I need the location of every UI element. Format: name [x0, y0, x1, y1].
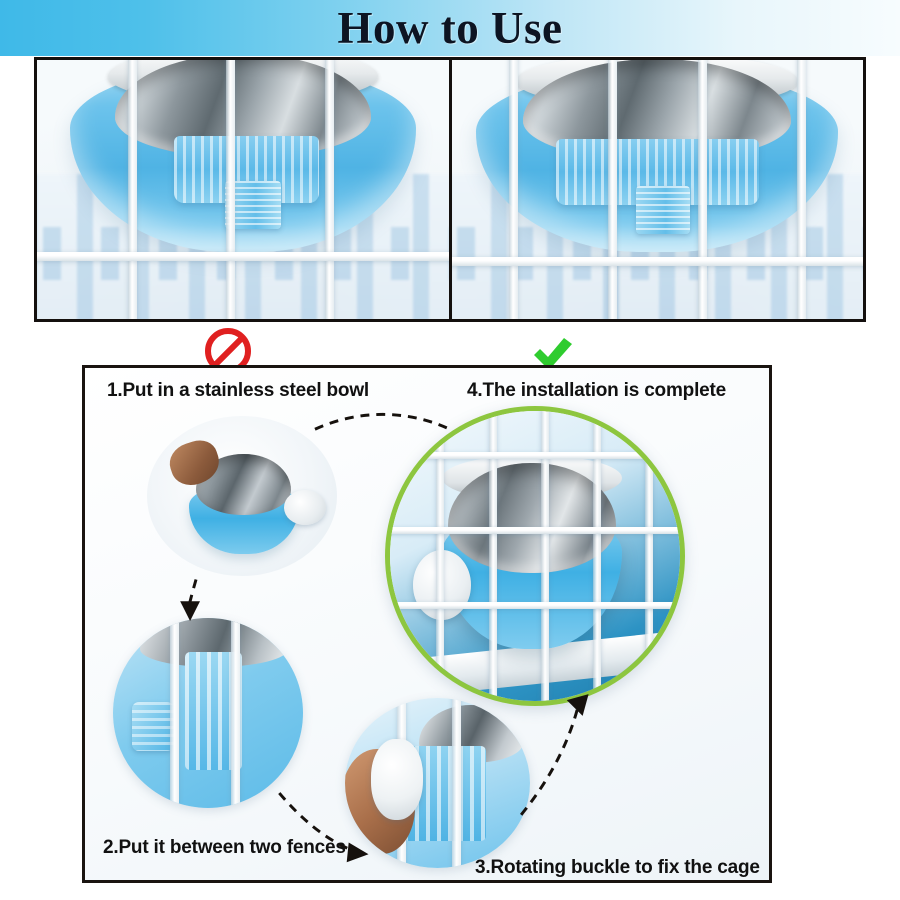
infographic-page: How to Use	[0, 0, 900, 900]
step-1-label: 1.Put in a stainless steel bowl	[107, 380, 369, 402]
page-header: How to Use	[0, 0, 900, 56]
step-3-label: 3.Rotating buckle to fix the cage	[475, 857, 760, 879]
step-3-image	[345, 698, 530, 868]
buckle-knob	[284, 490, 326, 525]
buckle-knob	[636, 186, 690, 233]
step-2-image	[113, 618, 303, 808]
photo-incorrect-mount	[37, 60, 449, 319]
steps-panel: 1.Put in a stainless steel bowl 4.The in…	[82, 365, 772, 883]
page-title: How to Use	[0, 0, 900, 56]
buckle-knob	[371, 739, 423, 821]
step-4-image	[385, 406, 685, 706]
step-1-image	[147, 416, 337, 576]
top-photo-strip	[34, 57, 866, 322]
photo-correct-mount	[449, 60, 864, 319]
step-2-label: 2.Put it between two fences	[103, 837, 346, 859]
steel-bowl	[448, 463, 616, 573]
step-4-label: 4.The installation is complete	[467, 380, 726, 402]
buckle-knob	[132, 702, 174, 751]
